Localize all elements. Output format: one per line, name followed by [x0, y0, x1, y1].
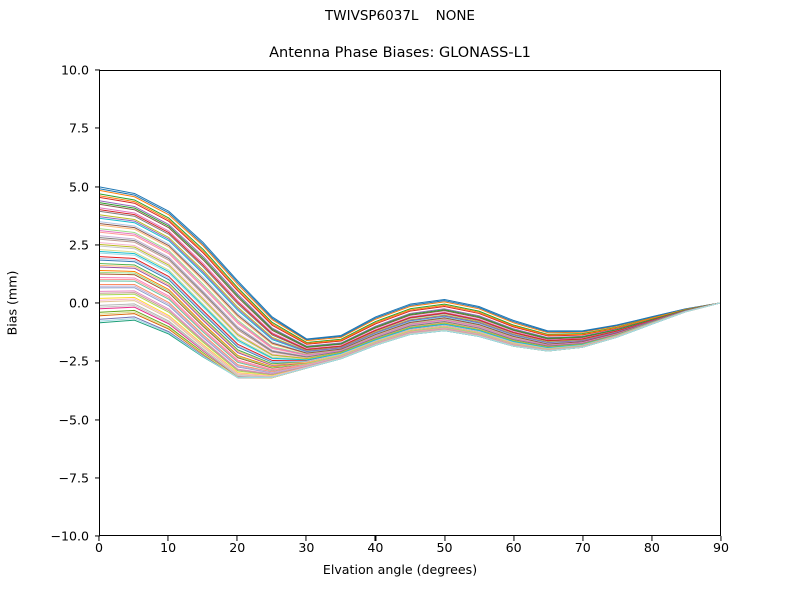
chart-line	[100, 301, 720, 377]
x-tick-mark	[720, 536, 721, 541]
x-tick-label: 60	[506, 540, 522, 555]
x-tick-mark	[651, 536, 652, 541]
y-tick-mark	[95, 477, 100, 478]
y-tick-label: −7.5	[27, 470, 89, 485]
y-tick-label: −10.0	[27, 529, 89, 544]
x-tick-mark	[444, 536, 445, 541]
y-tick-mark	[95, 361, 100, 362]
y-tick-mark	[95, 419, 100, 420]
x-tick-label: 90	[713, 540, 729, 555]
y-tick-label: −2.5	[27, 354, 89, 369]
y-tick-mark	[95, 244, 100, 245]
figure-suptitle: TWIVSP6037L NONE	[0, 8, 800, 24]
x-axis-label: Elvation angle (degrees)	[0, 562, 800, 577]
plot-axes	[99, 70, 721, 536]
x-tick-label: 80	[644, 540, 660, 555]
y-tick-label: 2.5	[27, 237, 89, 252]
x-tick-label: 0	[95, 540, 103, 555]
x-tick-mark	[513, 536, 514, 541]
y-tick-label: 0.0	[27, 296, 89, 311]
y-tick-mark	[95, 186, 100, 187]
x-tick-mark	[582, 536, 583, 541]
y-tick-mark	[95, 128, 100, 129]
chart-title: Antenna Phase Biases: GLONASS-L1	[0, 45, 800, 61]
x-tick-mark	[375, 536, 376, 541]
y-tick-mark	[95, 302, 100, 303]
plot-lines-svg	[100, 71, 720, 535]
x-tick-label: 40	[367, 540, 383, 555]
x-tick-mark	[306, 536, 307, 541]
x-tick-mark	[237, 536, 238, 541]
x-tick-label: 30	[298, 540, 314, 555]
y-tick-mark	[95, 69, 100, 70]
y-tick-label: 7.5	[27, 121, 89, 136]
x-tick-mark	[168, 536, 169, 541]
x-tick-label: 50	[437, 540, 453, 555]
y-tick-label: 5.0	[27, 179, 89, 194]
y-tick-label: 10.0	[27, 63, 89, 78]
x-tick-mark	[98, 536, 99, 541]
x-tick-label: 20	[229, 540, 245, 555]
x-tick-label: 10	[160, 540, 176, 555]
y-axis-label: Bias (mm)	[5, 271, 20, 336]
chart-figure: TWIVSP6037L NONE Antenna Phase Biases: G…	[0, 0, 800, 600]
x-tick-label: 70	[575, 540, 591, 555]
y-tick-label: −5.0	[27, 412, 89, 427]
